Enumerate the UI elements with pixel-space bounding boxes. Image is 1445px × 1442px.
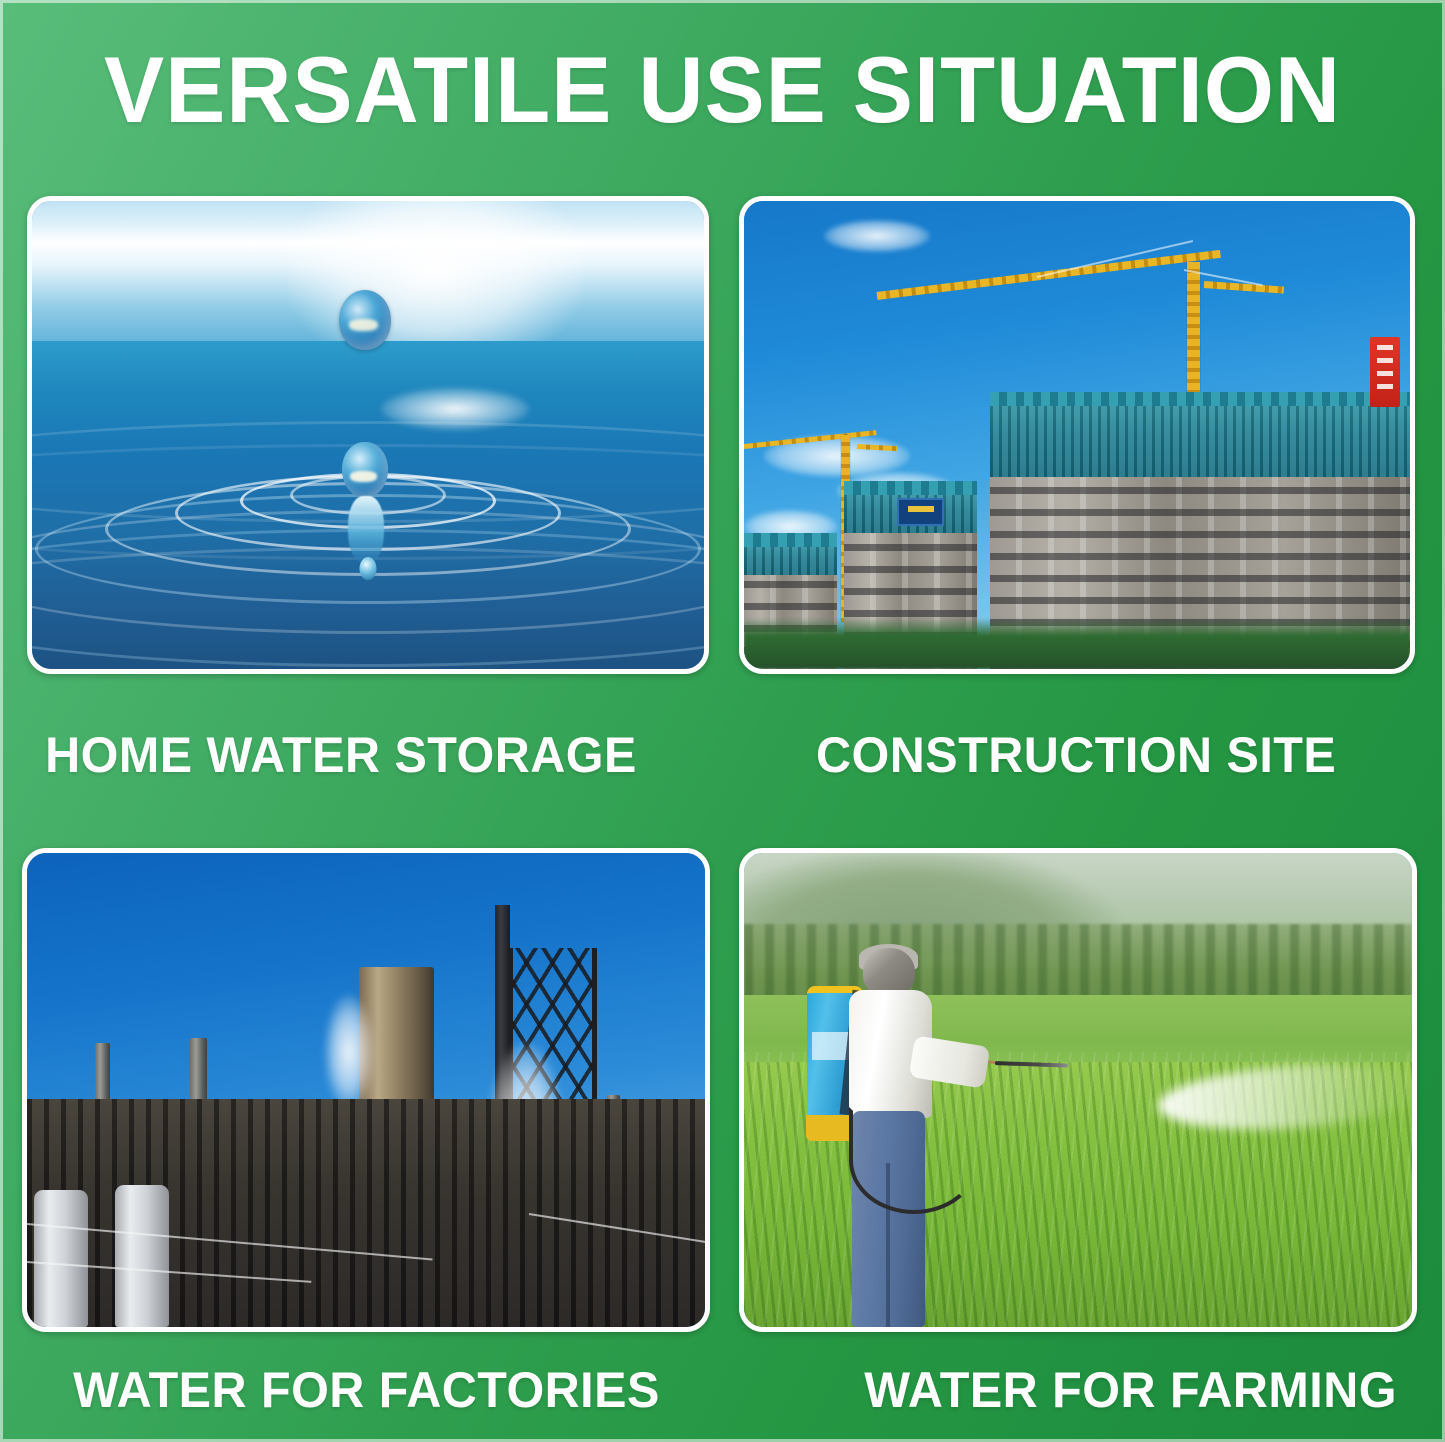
caption-water-for-factories: WATER FOR FACTORIES [73,1362,660,1418]
panel-water-for-factories[interactable] [22,848,710,1332]
photo-farming [739,848,1417,1332]
use-case-grid [0,0,1445,1442]
safety-netting [990,402,1410,477]
rebound-droplet [342,442,388,498]
caption-home-water-storage: HOME WATER STORAGE [45,727,637,783]
photo-factory [22,848,710,1332]
photo-water-drop [27,196,709,674]
falling-droplet [339,290,391,350]
photo-construction [739,196,1415,674]
panel-construction-site[interactable] [739,196,1415,674]
safety-netting [744,543,837,576]
red-banner [1370,337,1400,407]
panel-water-for-farming[interactable] [739,848,1417,1332]
storage-tank [115,1185,169,1327]
farmer-figure [811,948,985,1327]
storage-tank [34,1190,88,1327]
water-column [348,496,384,564]
poster-root: VERSATILE USE SITUATION [0,0,1445,1442]
steam-plume [325,995,372,1109]
spray-hose [849,1107,979,1214]
panel-home-water-storage[interactable] [27,196,709,674]
caption-construction-site: CONSTRUCTION SITE [816,727,1336,783]
building-sign [897,498,944,525]
caption-water-for-farming: WATER FOR FARMING [864,1362,1397,1418]
tree-line [744,618,1410,669]
small-droplet [360,557,377,580]
